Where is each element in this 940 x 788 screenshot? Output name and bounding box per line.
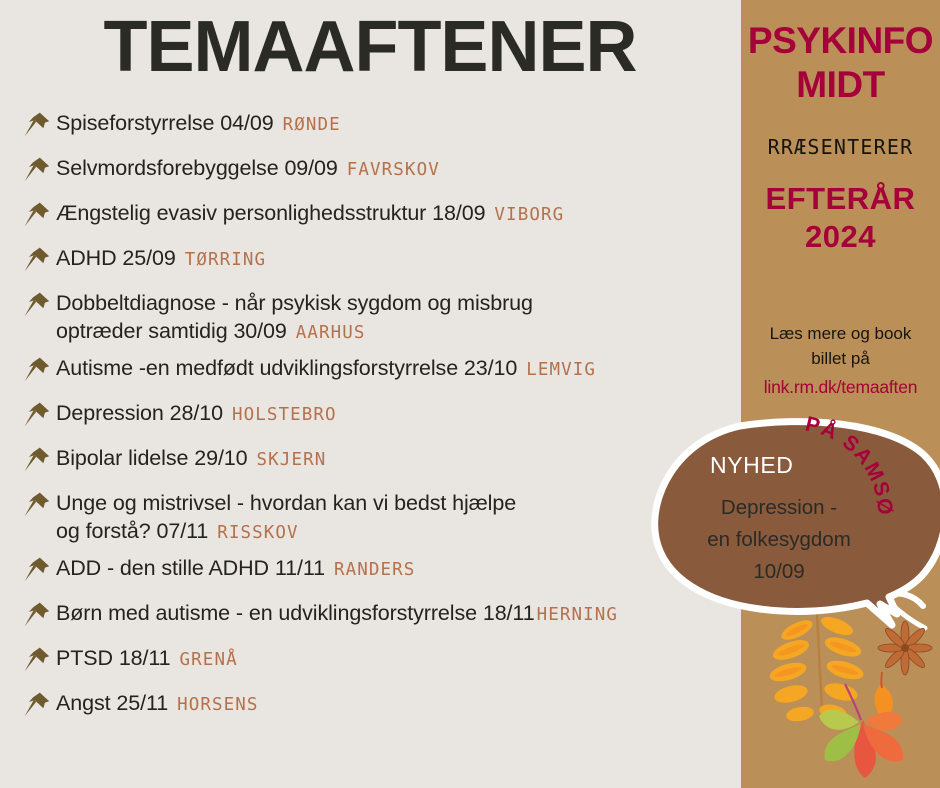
booking-info-line2: billet på: [745, 347, 936, 372]
season-line2: 2024: [741, 218, 940, 256]
event-text: Depression 28/10HOLSTEBRO: [56, 398, 337, 427]
event-row[interactable]: Unge og mistrivsel - hvordan kan vi beds…: [22, 488, 740, 546]
pushpin-icon: [22, 600, 56, 630]
event-title-line2: og forstå? 07/11RISSKOV: [56, 517, 516, 545]
pushpin-icon: [22, 445, 56, 475]
event-title: PTSD 18/11: [56, 646, 171, 670]
event-city: HOLSTEBRO: [232, 405, 337, 425]
pushpin-icon: [22, 245, 56, 275]
event-row[interactable]: Autisme -en medfødt udviklingsforstyrrel…: [22, 353, 740, 391]
event-row[interactable]: Børn med autisme - en udviklingsforstyrr…: [22, 598, 740, 636]
event-row[interactable]: Spiseforstyrrelse 04/09RØNDE: [22, 108, 740, 146]
pushpin-icon: [22, 355, 56, 385]
event-row[interactable]: PTSD 18/11GRENÅ: [22, 643, 740, 681]
event-title-line2: optræder samtidig 30/09AARHUS: [56, 317, 533, 345]
event-city: HORSENS: [177, 695, 258, 715]
event-city: HERNING: [537, 605, 618, 625]
event-row[interactable]: Bipolar lidelse 29/10SKJERN: [22, 443, 740, 481]
event-title-line2-text: optræder samtidig 30/09: [56, 319, 287, 343]
event-city: GRENÅ: [180, 650, 238, 670]
brand-name-line1: PSYKINFO: [741, 22, 940, 60]
event-text: Spiseforstyrrelse 04/09RØNDE: [56, 108, 341, 137]
event-text: Dobbeltdiagnose - når psykisk sygdom og …: [56, 288, 533, 346]
event-row[interactable]: Dobbeltdiagnose - når psykisk sygdom og …: [22, 288, 740, 346]
event-title: Dobbeltdiagnose - når psykisk sygdom og …: [56, 291, 533, 315]
event-text: Unge og mistrivsel - hvordan kan vi beds…: [56, 488, 516, 546]
event-city: TØRRING: [185, 250, 266, 270]
event-title: ADHD 25/09: [56, 246, 176, 270]
event-row[interactable]: Angst 25/11HORSENS: [22, 688, 740, 726]
booking-info-line1: Læs mere og book: [745, 322, 936, 347]
season-heading: EFTERÅR 2024: [741, 180, 940, 256]
booking-info: Læs mere og book billet på: [745, 322, 936, 371]
poster-canvas: PSYKINFO MIDT RRÆSENTERER EFTERÅR 2024 L…: [0, 0, 940, 788]
news-bubble-line3: 10/09: [663, 556, 895, 588]
pushpin-icon: [22, 110, 56, 140]
event-text: PTSD 18/11GRENÅ: [56, 643, 238, 672]
event-text: ADHD 25/09TØRRING: [56, 243, 266, 272]
event-text: Børn med autisme - en udviklingsforstyrr…: [56, 598, 618, 627]
event-text: Autisme -en medfødt udviklingsforstyrrel…: [56, 353, 596, 382]
event-city: RØNDE: [283, 115, 341, 135]
event-title: Unge og mistrivsel - hvordan kan vi beds…: [56, 491, 516, 515]
page-title: TEMAAFTENER: [0, 6, 740, 88]
event-title: Ængstelig evasiv personlighedsstruktur 1…: [56, 201, 485, 225]
event-title: Bipolar lidelse 29/10: [56, 446, 248, 470]
news-badge-label: NYHED: [710, 452, 794, 479]
event-row[interactable]: ADD - den stille ADHD 11/11RANDERS: [22, 553, 740, 591]
event-title: Børn med autisme - en udviklingsforstyrr…: [56, 601, 535, 625]
pushpin-icon: [22, 155, 56, 185]
presents-label: RRÆSENTERER: [741, 135, 940, 159]
pushpin-icon: [22, 290, 56, 320]
event-row[interactable]: Selvmordsforebyggelse 09/09FAVRSKOV: [22, 153, 740, 191]
event-text: Ængstelig evasiv personlighedsstruktur 1…: [56, 198, 564, 227]
event-row[interactable]: Ængstelig evasiv personlighedsstruktur 1…: [22, 198, 740, 236]
event-city: AARHUS: [296, 323, 366, 343]
event-text: Angst 25/11HORSENS: [56, 688, 259, 717]
pushpin-icon: [22, 555, 56, 585]
pushpin-icon: [22, 200, 56, 230]
event-row[interactable]: Depression 28/10HOLSTEBRO: [22, 398, 740, 436]
event-title: Autisme -en medfødt udviklingsforstyrrel…: [56, 356, 517, 380]
event-text: ADD - den stille ADHD 11/11RANDERS: [56, 553, 415, 582]
event-title: Spiseforstyrrelse 04/09: [56, 111, 274, 135]
pushpin-icon: [22, 645, 56, 675]
event-city: LEMVIG: [526, 360, 596, 380]
booking-link[interactable]: link.rm.dk/temaaften: [741, 377, 940, 398]
samso-ribbon: PÅ SAMSØ: [800, 424, 940, 514]
event-title: Angst 25/11: [56, 691, 168, 715]
pushpin-icon: [22, 690, 56, 720]
event-list: Spiseforstyrrelse 04/09RØNDESelvmordsfor…: [22, 108, 740, 733]
event-text: Selvmordsforebyggelse 09/09FAVRSKOV: [56, 153, 440, 182]
pushpin-icon: [22, 490, 56, 520]
pushpin-icon: [22, 400, 56, 430]
event-row[interactable]: ADHD 25/09TØRRING: [22, 243, 740, 281]
event-title-line2-text: og forstå? 07/11: [56, 519, 208, 543]
event-city: SKJERN: [257, 450, 327, 470]
event-text: Bipolar lidelse 29/10SKJERN: [56, 443, 326, 472]
brand-name-line2: MIDT: [741, 66, 940, 104]
season-line1: EFTERÅR: [741, 180, 940, 218]
event-city: FAVRSKOV: [347, 160, 440, 180]
event-city: RISSKOV: [217, 523, 298, 543]
event-city: VIBORG: [494, 205, 564, 225]
news-bubble-line2: en folkesygdom: [663, 524, 895, 556]
event-title: ADD - den stille ADHD 11/11: [56, 556, 325, 580]
event-city: RANDERS: [334, 560, 415, 580]
samso-ribbon-label: PÅ SAMSØ: [803, 412, 896, 517]
event-title: Selvmordsforebyggelse 09/09: [56, 156, 338, 180]
event-title: Depression 28/10: [56, 401, 223, 425]
